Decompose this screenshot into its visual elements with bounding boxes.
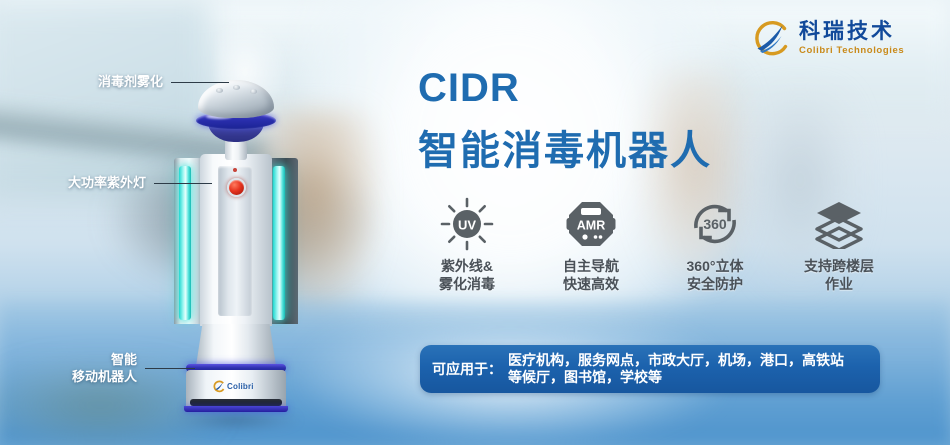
brand-name-cn: 科瑞技术 xyxy=(799,21,904,42)
page-title-en: CIDR xyxy=(418,66,520,111)
brand-logo-text: 科瑞技术 Colibri Technologies xyxy=(799,21,904,56)
robot-shadow xyxy=(174,410,298,430)
application-banner-text: 医疗机构，服务网点，市政大厅，机场，港口，高铁站 等候厅，图书馆，学校等 xyxy=(508,352,844,387)
robot-base-foot-light xyxy=(184,406,288,412)
feature-amr-line2: 快速高效 xyxy=(563,276,619,292)
callout-uv-lamp-label: 大功率紫外灯 xyxy=(68,175,146,192)
callout-atomizer: 消毒剂雾化 xyxy=(98,74,229,91)
callout-mobile-robot: 智能 移动机器人 xyxy=(72,352,195,386)
uv-lamp-tube-right xyxy=(273,166,285,320)
feature-label-uv: 紫外线& 雾化消毒 xyxy=(439,258,495,293)
amr-octagon-icon: AMR xyxy=(564,196,618,252)
callout-mobile-robot-label: 智能 移动机器人 xyxy=(72,352,137,386)
status-led xyxy=(233,168,237,172)
poster-root: Colibri 消毒剂雾化 大功率紫外灯 智能 移动机器人 科瑞技术 Colib… xyxy=(0,0,950,445)
feature-multifloor-line2: 作业 xyxy=(825,276,853,292)
feature-item-uv: UV 紫外线& 雾化消毒 xyxy=(408,196,526,306)
feature-label-360: 360°立体 安全防护 xyxy=(687,258,744,293)
feature-item-360: 360 360°立体 安全防护 xyxy=(656,196,774,306)
callout-leader-line xyxy=(145,368,195,369)
feature-multifloor-line1: 支持跨楼层 xyxy=(804,258,874,274)
callout-mobile-robot-line2: 移动机器人 xyxy=(72,369,137,384)
layers-stack-icon xyxy=(811,196,867,252)
page-title-cn: 智能消毒机器人 xyxy=(418,118,712,176)
atomizer-nozzle xyxy=(250,89,257,94)
uv-icon-text: UV xyxy=(458,218,476,233)
feature-item-multifloor: 支持跨楼层 作业 xyxy=(780,196,898,306)
feature-label-multifloor: 支持跨楼层 作业 xyxy=(804,258,874,293)
colibri-c-swoosh-logo-icon xyxy=(748,18,792,58)
feature-item-amr: AMR 自主导航 快速高效 xyxy=(532,196,650,306)
atomizer-nozzle xyxy=(233,85,240,90)
feature-360-line2: 安全防护 xyxy=(687,276,743,292)
callout-atomizer-label: 消毒剂雾化 xyxy=(98,74,163,91)
application-banner-line2: 等候厅，图书馆，学校等 xyxy=(508,369,662,385)
robot-waist xyxy=(196,324,276,366)
callout-mobile-robot-line1: 智能 xyxy=(111,352,137,367)
callout-uv-lamp: 大功率紫外灯 xyxy=(68,175,212,192)
robot-base-logo: Colibri xyxy=(212,380,264,393)
rotation-360-icon: 360 xyxy=(687,196,743,252)
feature-list: UV 紫外线& 雾化消毒 AMR xyxy=(408,196,898,306)
rotation-icon-text: 360 xyxy=(703,216,727,232)
application-banner-line1: 医疗机构，服务网点，市政大厅，机场，港口，高铁站 xyxy=(508,352,844,368)
robot-base-slot xyxy=(190,399,282,406)
feature-amr-line1: 自主导航 xyxy=(563,258,619,274)
feature-360-line1: 360°立体 xyxy=(687,258,744,274)
uv-sun-icon: UV xyxy=(440,196,494,252)
application-banner: 可应用于： 医疗机构，服务网点，市政大厅，机场，港口，高铁站 等候厅，图书馆，学… xyxy=(420,345,880,393)
callout-leader-line xyxy=(154,183,212,184)
emergency-stop-button[interactable] xyxy=(227,178,246,197)
amr-icon-text: AMR xyxy=(577,219,605,233)
robot-base-logo-text: Colibri xyxy=(227,382,254,391)
feature-label-amr: 自主导航 快速高效 xyxy=(563,258,619,293)
brand-logo: 科瑞技术 Colibri Technologies xyxy=(748,18,904,58)
brand-name-en: Colibri Technologies xyxy=(799,46,904,56)
application-banner-label: 可应用于： xyxy=(432,359,502,379)
callout-leader-line xyxy=(171,82,229,83)
feature-uv-line2: 雾化消毒 xyxy=(439,276,495,292)
colibri-c-swoosh-icon xyxy=(212,380,225,393)
feature-uv-line1: 紫外线& xyxy=(441,258,493,274)
